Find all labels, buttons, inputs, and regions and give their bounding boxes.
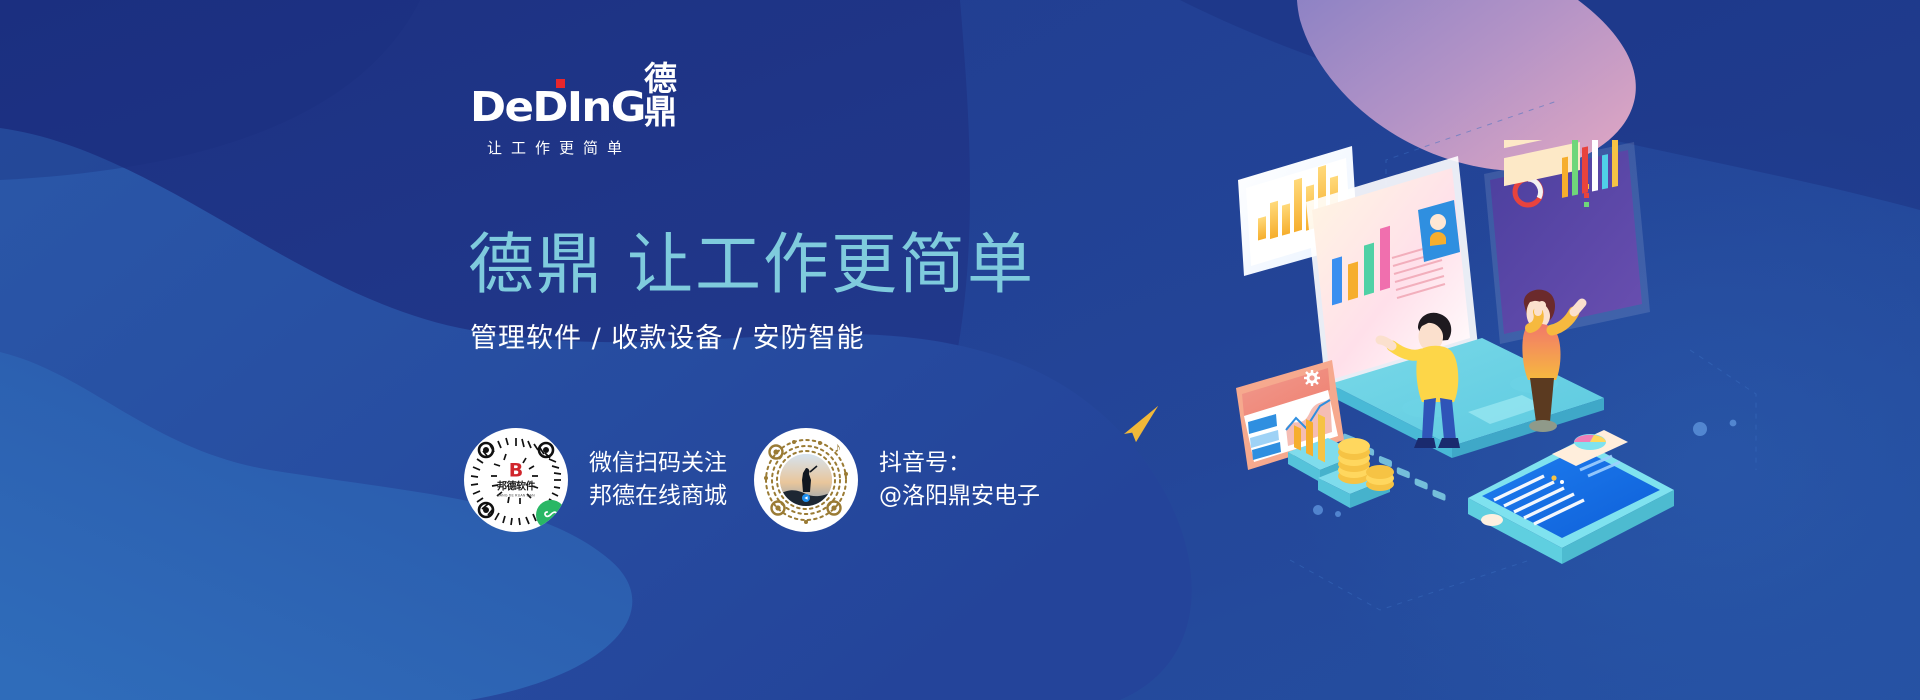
wechat-qr-block[interactable]: B 邦德软件 BANG DE RUAN JIAN 微信扫码关注 邦德在线商城: [464, 428, 727, 532]
hero-headline: 德鼎 让工作更简单: [468, 228, 1035, 302]
wechat-caption-line-2: 邦德在线商城: [589, 480, 727, 513]
logo-wordmark-cn: 德鼎: [644, 62, 690, 128]
brand-logo[interactable]: DeDInG 德鼎 让工作更简单: [470, 82, 690, 158]
wechat-mini-program-badge-icon: [536, 500, 566, 530]
qr-center-brand: B 邦德软件 BANG DE RUAN JIAN: [491, 462, 541, 499]
smartphone: [1468, 430, 1674, 564]
qr-center-pinyin: BANG DE RUAN JIAN: [491, 494, 541, 499]
music-note-icon: ♪: [834, 440, 849, 455]
douyin-caption-line-1: 抖音号：: [879, 447, 1040, 480]
douyin-caption-line-2: @洛阳鼎安电子: [879, 480, 1040, 513]
qr-center-mark: B: [491, 462, 541, 481]
douyin-qr-code[interactable]: ♪: [754, 428, 858, 532]
logo-mark: DeDInG 德鼎: [470, 82, 690, 128]
douyin-qr-block[interactable]: ♪ 抖音号： @洛阳鼎安电子: [754, 428, 1040, 532]
wechat-qr-caption: 微信扫码关注 邦德在线商城: [589, 447, 727, 513]
hero-subheadline: 管理软件 / 收款设备 / 安防智能: [470, 322, 865, 356]
douyin-qr-caption: 抖音号： @洛阳鼎安电子: [879, 447, 1040, 513]
qr-center-photo: [780, 454, 832, 506]
qr-center-name: 邦德软件: [491, 482, 541, 494]
logo-accent-dot: [556, 79, 565, 88]
paper-plane-icon: [1122, 404, 1164, 444]
logo-wordmark: DeDInG: [470, 87, 645, 128]
wechat-qr-code[interactable]: B 邦德软件 BANG DE RUAN JIAN: [464, 428, 568, 532]
isometric-illustration: [1232, 140, 1692, 580]
wechat-caption-line-1: 微信扫码关注: [589, 447, 727, 480]
promo-banner: DeDInG 德鼎 让工作更简单 德鼎 让工作更简单 管理软件 / 收款设备 /…: [0, 0, 1920, 700]
logo-slogan: 让工作更简单: [473, 137, 636, 158]
